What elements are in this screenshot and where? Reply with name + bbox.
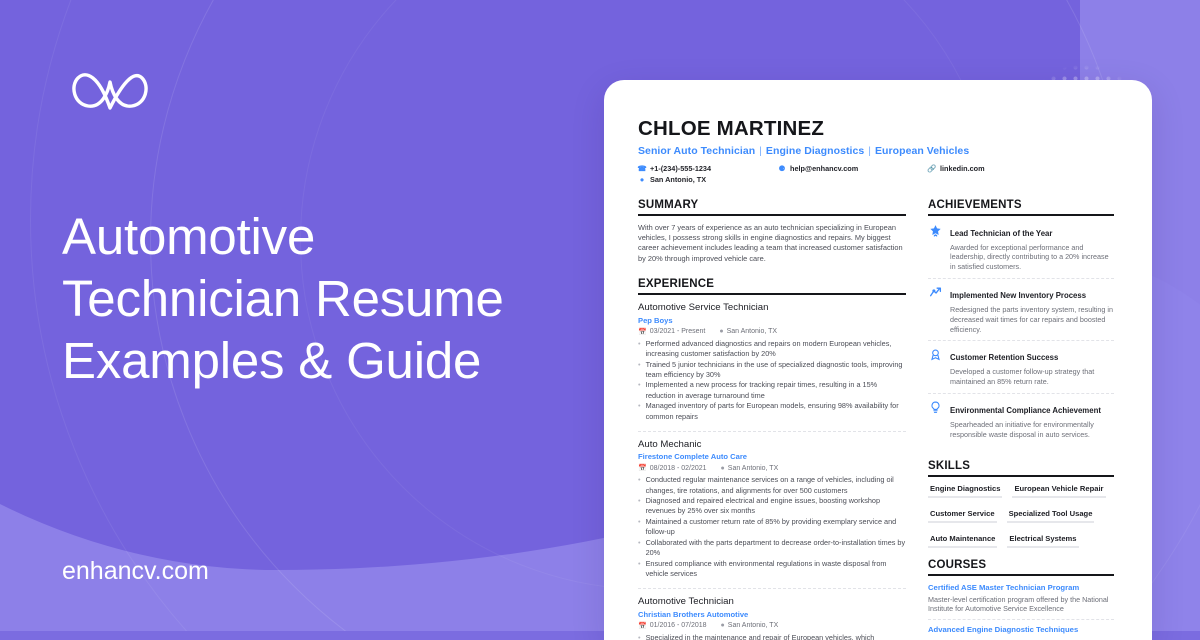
- link-icon: 🔗: [928, 163, 936, 174]
- title-separator-1: |: [758, 145, 763, 157]
- experience-bullet: •Trained 5 junior technicians in the use…: [638, 360, 906, 380]
- experience-location-value: San Antonio, TX: [727, 328, 777, 335]
- experience-dates: 📅01/2016 - 07/2018: [638, 622, 707, 630]
- contact-linkedin[interactable]: 🔗 linkedin.com: [928, 163, 985, 174]
- contact-linkedin-value: linkedin.com: [940, 163, 985, 174]
- experience-dates-value: 03/2021 - Present: [650, 328, 706, 335]
- skills-list: Engine DiagnosticsEuropean Vehicle Repai…: [928, 484, 1114, 559]
- experience-bullet: •Maintained a customer return rate of 85…: [638, 517, 906, 537]
- experience-divider: [638, 588, 906, 589]
- contact-email-value: help@enhancv.com: [790, 163, 858, 174]
- course-title: Certified ASE Master Technician Program: [928, 583, 1114, 593]
- course-title: Advanced Engine Diagnostic Techniques: [928, 625, 1114, 635]
- experience-item: Automotive Service TechnicianPep Boys📅03…: [638, 302, 906, 422]
- skill-tag: Specialized Tool Usage: [1007, 509, 1095, 523]
- experience-list: Automotive Service TechnicianPep Boys📅03…: [638, 302, 906, 640]
- resume-candidate-name: CHLOE MARTINEZ: [638, 118, 1118, 141]
- experience-bullet: •Managed inventory of parts for European…: [638, 401, 906, 421]
- skill-tag: Customer Service: [928, 509, 997, 523]
- skill-tag: Engine Diagnostics: [928, 484, 1002, 498]
- achievement-description: Spearheaded an initiative for environmen…: [950, 420, 1114, 440]
- page-headline: Automotive Technician Resume Examples & …: [62, 206, 562, 392]
- skill-tag: European Vehicle Repair: [1012, 484, 1105, 498]
- bullet-dot-icon: •: [638, 496, 641, 516]
- experience-bullet: •Diagnosed and repaired electrical and e…: [638, 496, 906, 516]
- section-heading-summary: SUMMARY: [638, 199, 906, 216]
- experience-bullet: •Implemented a new process for tracking …: [638, 380, 906, 400]
- award-medal-icon: [928, 347, 943, 387]
- experience-dates: 📅03/2021 - Present: [638, 328, 705, 336]
- achievement-title: Implemented New Inventory Process: [950, 291, 1086, 300]
- phone-icon: ☎: [638, 163, 646, 174]
- bullet-dot-icon: •: [638, 517, 641, 537]
- calendar-icon: 📅: [638, 464, 647, 472]
- trending-up-icon: [928, 285, 943, 334]
- experience-location-value: San Antonio, TX: [728, 465, 778, 472]
- experience-bullet-text: Maintained a customer return rate of 85%…: [646, 517, 906, 537]
- experience-bullet-text: Specialized in the maintenance and repai…: [646, 633, 906, 640]
- achievement-item: Implemented New Inventory ProcessRedesig…: [928, 278, 1114, 340]
- experience-item: Auto MechanicFirestone Complete Auto Car…: [638, 439, 906, 580]
- bullet-dot-icon: •: [638, 401, 641, 421]
- star-badge-icon: [928, 223, 943, 272]
- resume-contacts: ☎ +1-(234)-555-1234 ⚈ help@enhancv.com 🔗…: [638, 163, 1118, 185]
- experience-bullet-text: Performed advanced diagnostics and repai…: [646, 339, 906, 359]
- lightbulb-icon: [928, 400, 943, 440]
- course-item: Certified ASE Master Technician ProgramM…: [928, 583, 1114, 619]
- resume-columns: SUMMARY With over 7 years of experience …: [638, 199, 1118, 640]
- achievement-item: Customer Retention SuccessDeveloped a cu…: [928, 340, 1114, 393]
- experience-location: ●San Antonio, TX: [721, 622, 779, 630]
- bullet-dot-icon: •: [638, 633, 641, 640]
- resume-candidate-title: Senior Auto Technician | Engine Diagnost…: [638, 145, 1118, 157]
- section-heading-achievements: ACHIEVEMENTS: [928, 199, 1114, 216]
- experience-company: Firestone Complete Auto Care: [638, 452, 906, 461]
- title-separator-2: |: [867, 145, 872, 157]
- experience-bullet-text: Managed inventory of parts for European …: [646, 401, 906, 421]
- experience-meta: 📅08/2018 - 02/2021●San Antonio, TX: [638, 464, 906, 472]
- bullet-dot-icon: •: [638, 475, 641, 495]
- contact-phone-value: +1-(234)-555-1234: [650, 163, 711, 174]
- experience-job-title: Automotive Service Technician: [638, 302, 906, 314]
- location-pin-icon: ●: [721, 622, 725, 629]
- resume-side-column: ACHIEVEMENTS Lead Technician of the Year…: [928, 199, 1114, 640]
- bullet-dot-icon: •: [638, 538, 641, 558]
- experience-bullet: •Collaborated with the parts department …: [638, 538, 906, 558]
- achievement-title: Customer Retention Success: [950, 353, 1058, 362]
- experience-job-title: Automotive Technician: [638, 596, 906, 608]
- title-part-1: Senior Auto Technician: [638, 145, 755, 157]
- calendar-icon: 📅: [638, 622, 647, 630]
- experience-meta: 📅01/2016 - 07/2018●San Antonio, TX: [638, 622, 906, 630]
- achievement-description: Developed a customer follow-up strategy …: [950, 367, 1114, 387]
- experience-bullet-text: Ensured compliance with environmental re…: [646, 559, 906, 579]
- experience-divider: [638, 431, 906, 432]
- experience-dates-value: 08/2018 - 02/2021: [650, 465, 707, 472]
- contact-location: ● San Antonio, TX: [638, 174, 706, 185]
- calendar-icon: 📅: [638, 328, 647, 336]
- summary-text: With over 7 years of experience as an au…: [638, 223, 906, 265]
- experience-bullets: •Specialized in the maintenance and repa…: [638, 633, 906, 640]
- title-part-3: European Vehicles: [875, 145, 969, 157]
- location-pin-icon: ●: [721, 465, 725, 472]
- achievements-list: Lead Technician of the YearAwarded for e…: [928, 223, 1114, 446]
- experience-bullet: •Ensured compliance with environmental r…: [638, 559, 906, 579]
- course-item: Advanced Engine Diagnostic Techniques: [928, 619, 1114, 640]
- experience-bullets: •Conducted regular maintenance services …: [638, 475, 906, 579]
- location-pin-icon: ●: [719, 328, 723, 335]
- resume-preview-card[interactable]: CHLOE MARTINEZ Senior Auto Technician | …: [604, 80, 1152, 640]
- experience-location: ●San Antonio, TX: [721, 464, 779, 472]
- experience-location: ●San Antonio, TX: [719, 328, 777, 336]
- achievement-description: Redesigned the parts inventory system, r…: [950, 305, 1114, 334]
- achievement-title: Environmental Compliance Achievement: [950, 406, 1101, 415]
- skill-tag: Electrical Systems: [1007, 534, 1078, 548]
- experience-bullet-text: Conducted regular maintenance services o…: [646, 475, 906, 495]
- experience-dates: 📅08/2018 - 02/2021: [638, 464, 707, 472]
- section-heading-experience: EXPERIENCE: [638, 278, 906, 295]
- experience-bullet-text: Collaborated with the parts department t…: [646, 538, 906, 558]
- site-url: enhancv.com: [62, 557, 209, 586]
- bullet-dot-icon: •: [638, 380, 641, 400]
- contact-email[interactable]: ⚈ help@enhancv.com: [778, 163, 928, 174]
- experience-job-title: Auto Mechanic: [638, 439, 906, 451]
- section-heading-skills: SKILLS: [928, 460, 1114, 477]
- section-heading-courses: COURSES: [928, 559, 1114, 576]
- courses-list: Certified ASE Master Technician ProgramM…: [928, 583, 1114, 640]
- experience-dates-value: 01/2016 - 07/2018: [650, 622, 707, 629]
- bullet-dot-icon: •: [638, 339, 641, 359]
- achievement-description: Awarded for exceptional performance and …: [950, 243, 1114, 272]
- enhancv-infinity-logo-icon: [66, 62, 152, 118]
- location-pin-icon: ●: [638, 174, 646, 185]
- experience-bullet: •Specialized in the maintenance and repa…: [638, 633, 906, 640]
- experience-bullet-text: Diagnosed and repaired electrical and en…: [646, 496, 906, 516]
- experience-meta: 📅03/2021 - Present●San Antonio, TX: [638, 328, 906, 336]
- course-description: Master-level certification program offer…: [928, 595, 1114, 614]
- bullet-dot-icon: •: [638, 559, 641, 579]
- contact-phone[interactable]: ☎ +1-(234)-555-1234: [638, 163, 778, 174]
- resume-main-column: SUMMARY With over 7 years of experience …: [638, 199, 906, 640]
- achievement-item: Environmental Compliance AchievementSpea…: [928, 393, 1114, 446]
- experience-bullet-text: Trained 5 junior technicians in the use …: [646, 360, 906, 380]
- experience-company: Christian Brothers Automotive: [638, 610, 906, 619]
- experience-bullets: •Performed advanced diagnostics and repa…: [638, 339, 906, 422]
- experience-bullet: •Performed advanced diagnostics and repa…: [638, 339, 906, 359]
- experience-company: Pep Boys: [638, 316, 906, 325]
- at-icon: ⚈: [778, 163, 786, 174]
- experience-bullet: •Conducted regular maintenance services …: [638, 475, 906, 495]
- skill-tag: Auto Maintenance: [928, 534, 997, 548]
- left-panel: Automotive Technician Resume Examples & …: [0, 0, 600, 631]
- achievement-title: Lead Technician of the Year: [950, 229, 1052, 238]
- title-part-2: Engine Diagnostics: [766, 145, 864, 157]
- achievement-item: Lead Technician of the YearAwarded for e…: [928, 223, 1114, 278]
- bullet-dot-icon: •: [638, 360, 641, 380]
- experience-item: Automotive TechnicianChristian Brothers …: [638, 596, 906, 640]
- experience-bullet-text: Implemented a new process for tracking r…: [646, 380, 906, 400]
- contact-location-value: San Antonio, TX: [650, 174, 706, 185]
- experience-location-value: San Antonio, TX: [728, 622, 778, 629]
